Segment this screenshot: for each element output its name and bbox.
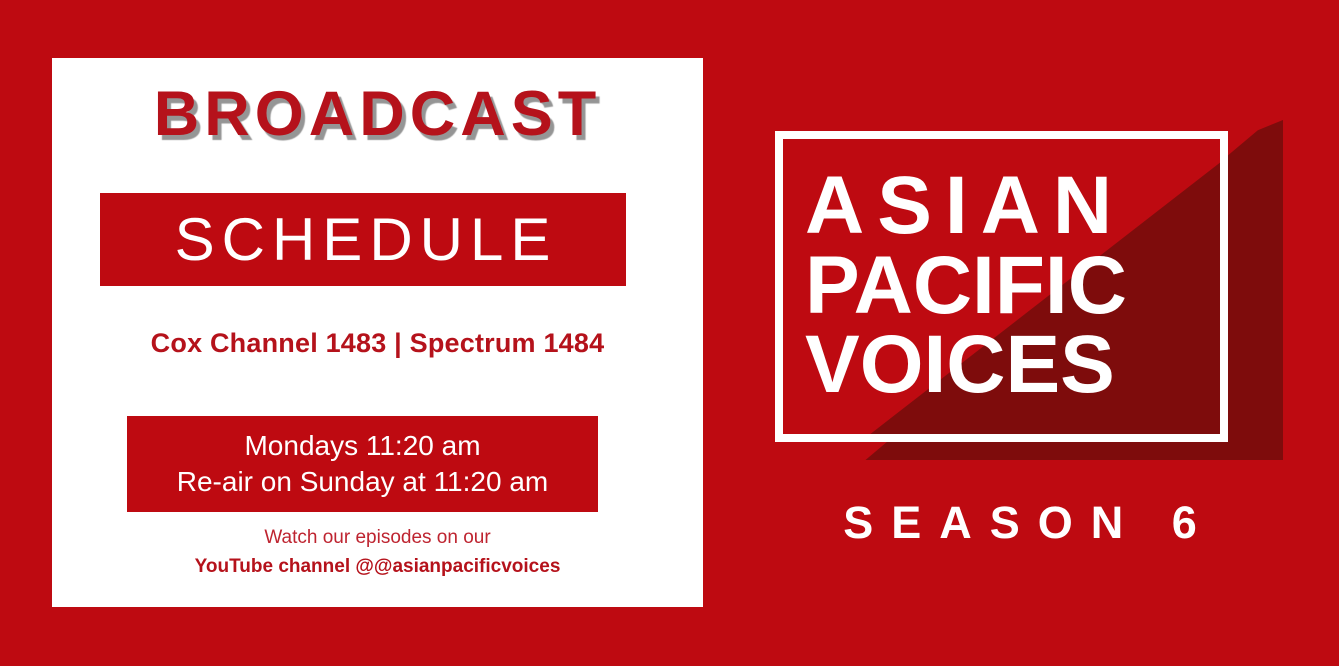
airtime-primary: Mondays 11:20 am <box>244 428 480 464</box>
asian-pacific-voices-logo: ASIAN PACIFIC VOICES <box>760 110 1280 460</box>
logo-word-pacific: PACIFIC <box>805 246 1220 326</box>
channel-numbers: Cox Channel 1483 | Spectrum 1484 <box>52 328 703 359</box>
schedule-band-label: SCHEDULE <box>100 193 626 286</box>
youtube-channel-handle[interactable]: YouTube channel @@asianpacificvoices <box>52 553 703 582</box>
airtime-band: Mondays 11:20 am Re-air on Sunday at 11:… <box>127 416 598 512</box>
page-title: BROADCAST <box>52 83 703 146</box>
logo-frame: ASIAN PACIFIC VOICES <box>775 131 1228 442</box>
season-label: SEASON 6 <box>760 500 1280 545</box>
watch-prompt: Watch our episodes on our <box>52 524 703 553</box>
broadcast-schedule-card: BROADCAST SCHEDULE Cox Channel 1483 | Sp… <box>52 58 703 607</box>
logo-word-asian: ASIAN <box>805 166 1220 246</box>
watch-block: Watch our episodes on our YouTube channe… <box>52 524 703 581</box>
schedule-band: SCHEDULE <box>100 193 626 286</box>
logo-wordmark: ASIAN PACIFIC VOICES <box>783 139 1220 434</box>
logo-word-voices: VOICES <box>805 325 1220 405</box>
airtime-reair: Re-air on Sunday at 11:20 am <box>177 464 548 500</box>
